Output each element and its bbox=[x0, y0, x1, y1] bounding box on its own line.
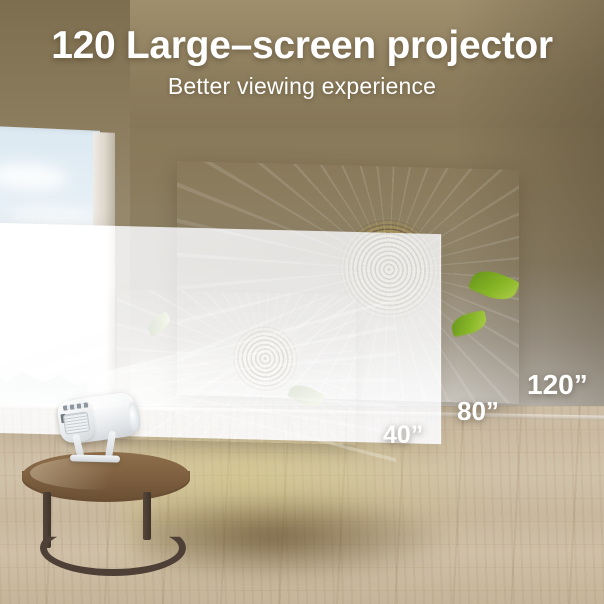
cloud-shape bbox=[0, 162, 68, 192]
table-shadow bbox=[135, 490, 465, 580]
page-subtitle: Better viewing experience bbox=[0, 73, 604, 100]
projector-stand-foot bbox=[70, 454, 120, 462]
product-banner: 120 Large–screen projector Better viewin… bbox=[0, 0, 604, 604]
screen-size-label-120: 120” bbox=[527, 369, 588, 401]
screen-size-label-40: 40” bbox=[383, 421, 423, 450]
screen-size-label-80: 80” bbox=[457, 396, 499, 427]
table-leg bbox=[143, 492, 151, 540]
projector-vent-grille bbox=[63, 411, 91, 434]
page-title: 120 Large–screen projector bbox=[0, 24, 604, 68]
